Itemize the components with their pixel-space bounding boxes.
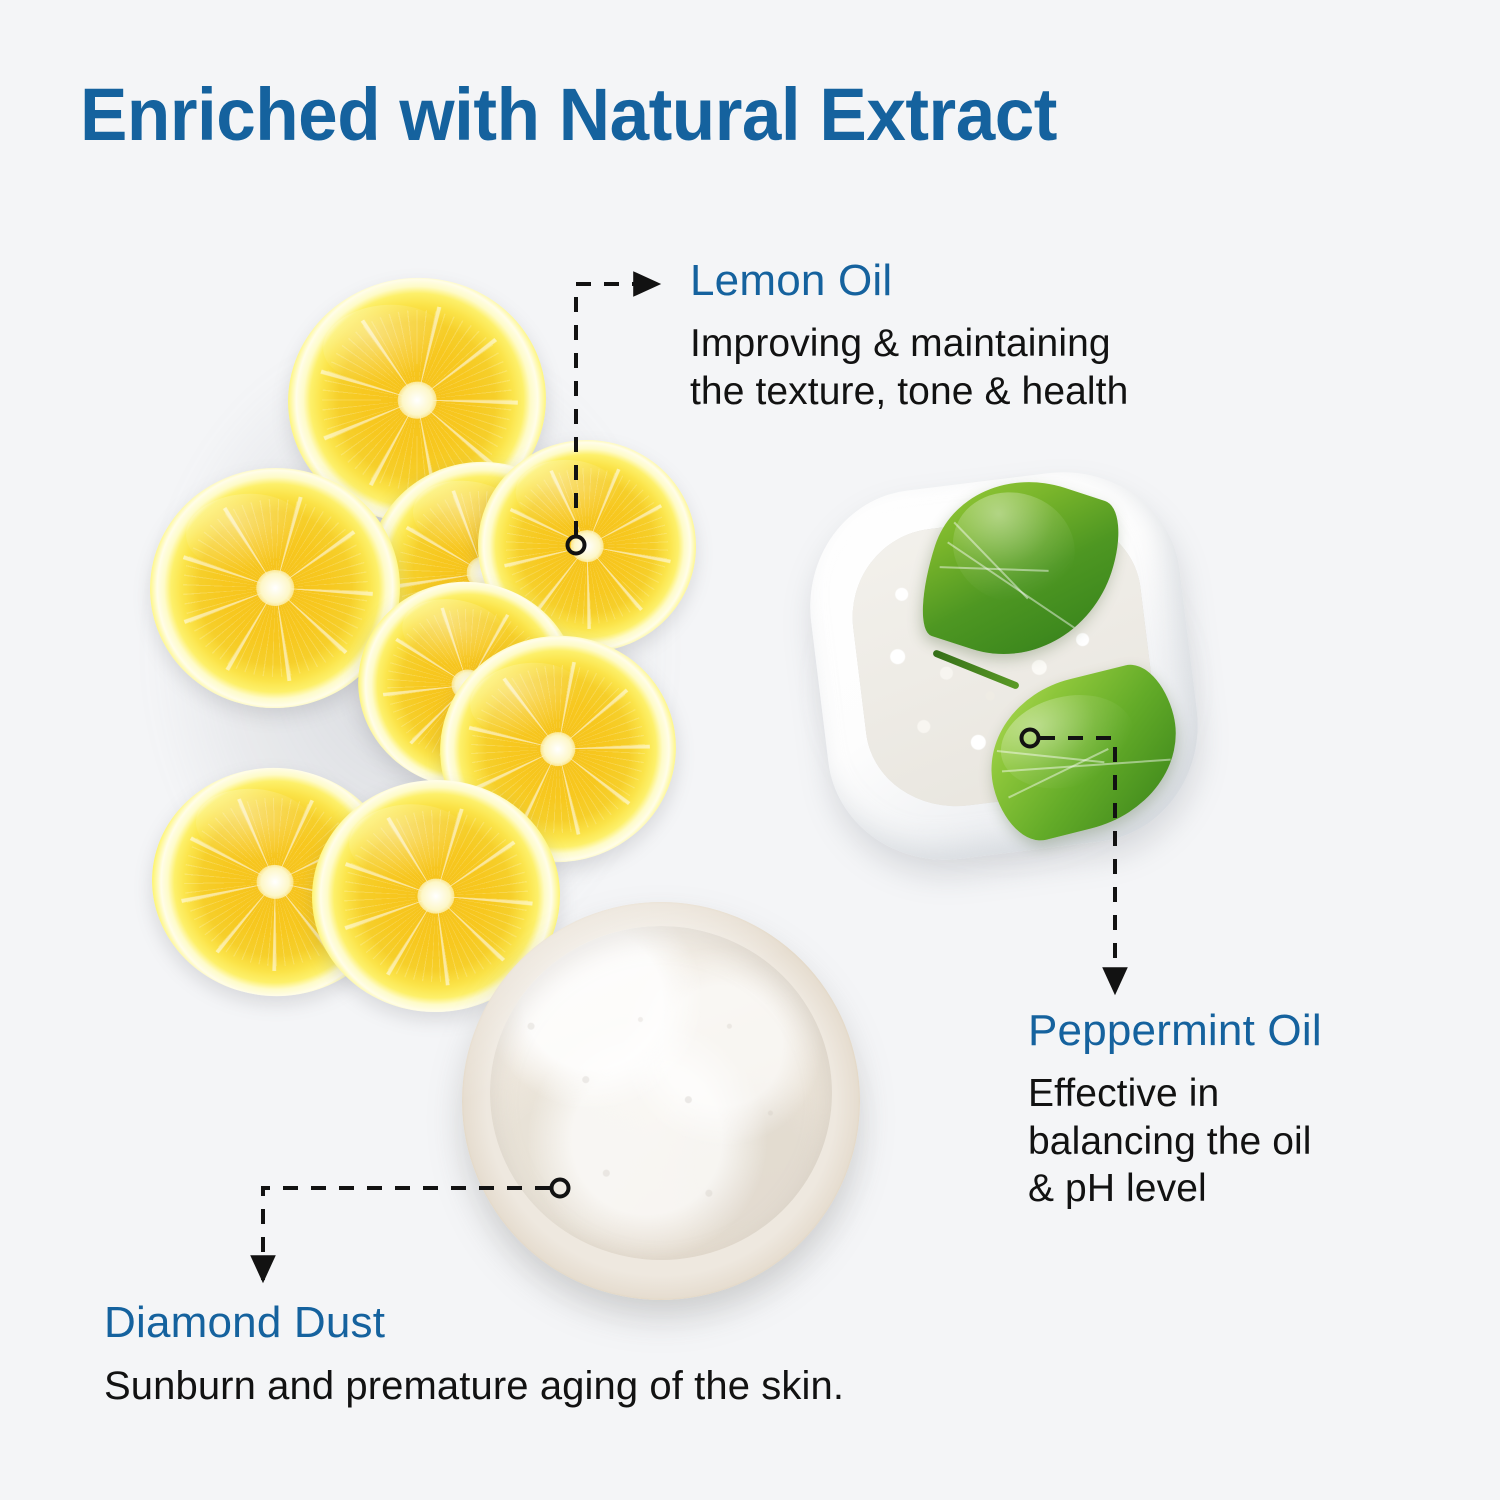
callout-body-lemon-oil: Improving & maintaining the texture, ton… — [690, 320, 1330, 415]
callout-body-line: the texture, tone & health — [690, 368, 1330, 416]
callout-peppermint-oil: Peppermint Oil Effective in balancing th… — [1028, 1008, 1448, 1213]
callout-lemon-oil: Lemon Oil Improving & maintaining the te… — [690, 258, 1330, 415]
callout-title-lemon-oil: Lemon Oil — [690, 258, 1330, 304]
diamond-dust-powder — [490, 926, 832, 1260]
callout-title-peppermint-oil: Peppermint Oil — [1028, 1008, 1448, 1054]
page-title: Enriched with Natural Extract — [80, 78, 1057, 152]
callout-body-line: balancing the oil — [1028, 1118, 1448, 1166]
callout-body-diamond-dust: Sunburn and premature aging of the skin. — [104, 1362, 1064, 1411]
callout-body-line: & pH level — [1028, 1165, 1448, 1213]
callout-body-peppermint-oil: Effective in balancing the oil & pH leve… — [1028, 1070, 1448, 1213]
callout-diamond-dust: Diamond Dust Sunburn and premature aging… — [104, 1300, 1064, 1411]
salt-bowl-with-leaves — [810, 470, 1210, 890]
artwork-layer — [0, 0, 1500, 1500]
infographic-canvas: Enriched with Natural Extract Lemon Oil … — [0, 0, 1500, 1500]
callout-title-diamond-dust: Diamond Dust — [104, 1300, 1064, 1346]
glass-powder-bowl — [462, 902, 860, 1300]
callout-body-line: Improving & maintaining — [690, 320, 1330, 368]
callout-body-line: Effective in — [1028, 1070, 1448, 1118]
